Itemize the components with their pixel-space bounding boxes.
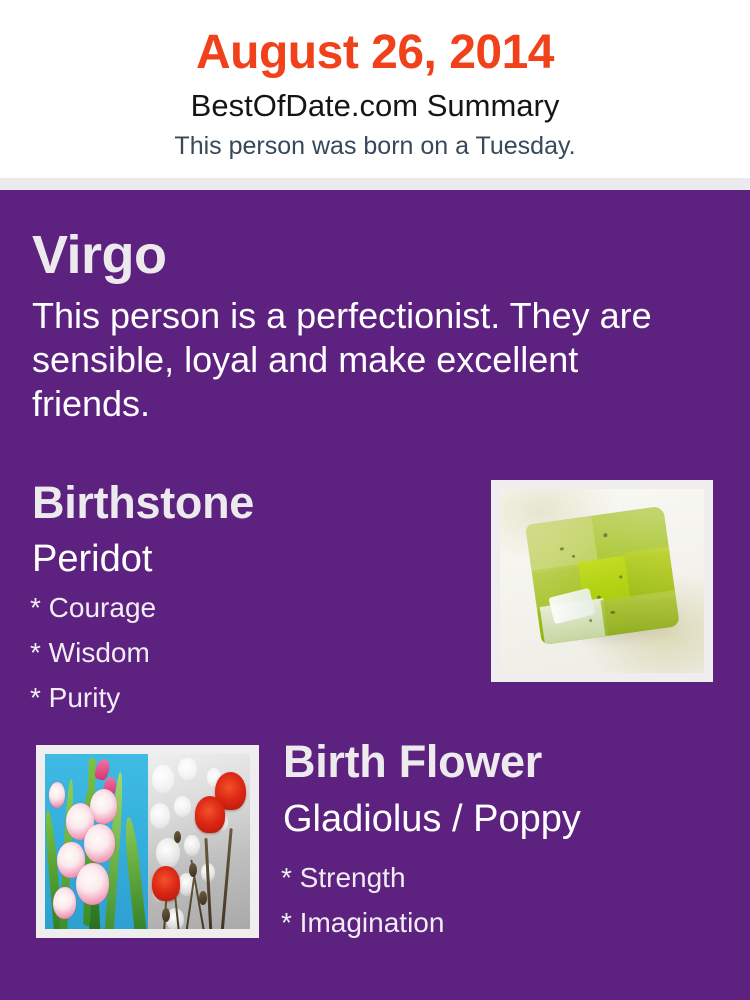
- gladiolus-photo-panel: [45, 754, 148, 929]
- list-item: * Wisdom: [30, 630, 450, 675]
- gem-inclusion: [588, 619, 591, 622]
- gladiolus-bloom: [90, 789, 117, 824]
- gladiolus-poppy-image: [45, 754, 250, 929]
- header-divider: [0, 178, 750, 190]
- bokeh-light: [152, 765, 175, 793]
- poppy-bloom: [152, 866, 181, 901]
- list-item: * Strength: [281, 855, 701, 900]
- bokeh-light: [150, 803, 171, 829]
- poppy-bud: [174, 831, 181, 843]
- card-header: August 26, 2014 BestOfDate.com Summary T…: [0, 0, 750, 178]
- poppy-photo-panel: [148, 754, 251, 929]
- birth-flower-heading: Birth Flower: [283, 735, 542, 789]
- birth-flower-name: Gladiolus / Poppy: [283, 796, 581, 842]
- gem-inclusion: [596, 595, 600, 599]
- gem-inclusion: [559, 547, 563, 551]
- leaf-shape: [123, 817, 148, 929]
- poppy-bud: [199, 891, 207, 905]
- zodiac-sign-heading: Virgo: [32, 225, 167, 285]
- page-title-date: August 26, 2014: [0, 24, 750, 82]
- birth-flower-traits-list: * Strength * Imagination: [281, 855, 701, 945]
- list-item: * Purity: [30, 675, 450, 720]
- zodiac-description: This person is a perfectionist. They are…: [32, 294, 672, 426]
- site-summary-label: BestOfDate.com Summary: [0, 87, 750, 125]
- gladiolus-bloom: [84, 824, 115, 863]
- poppy-bud: [189, 863, 197, 877]
- birth-day-note: This person was born on a Tuesday.: [0, 130, 750, 162]
- gem-crystal: [525, 506, 679, 646]
- list-item: * Courage: [30, 585, 450, 630]
- gem-inclusion: [619, 575, 622, 578]
- poppy-bloom: [195, 796, 226, 833]
- birthday-summary-card: August 26, 2014 BestOfDate.com Summary T…: [0, 0, 750, 1000]
- list-item: * Imagination: [281, 900, 701, 945]
- gladiolus-bloom: [53, 887, 76, 919]
- bokeh-light: [174, 796, 190, 817]
- gladiolus-bloom: [49, 782, 65, 808]
- birthstone-photo-frame: [491, 480, 713, 682]
- poppy-bud: [162, 908, 170, 922]
- bokeh-light: [184, 835, 199, 856]
- poppy-stem: [204, 838, 212, 929]
- birthstone-heading: Birthstone: [32, 476, 254, 530]
- birthstone-traits-list: * Courage * Wisdom * Purity: [30, 585, 450, 720]
- peridot-gemstone-image: [500, 489, 704, 673]
- poppy-stem: [221, 828, 233, 929]
- gladiolus-bloom: [76, 863, 109, 905]
- birth-flower-photo-frame: [36, 745, 259, 938]
- bokeh-light: [178, 758, 196, 781]
- birthstone-name: Peridot: [32, 536, 152, 582]
